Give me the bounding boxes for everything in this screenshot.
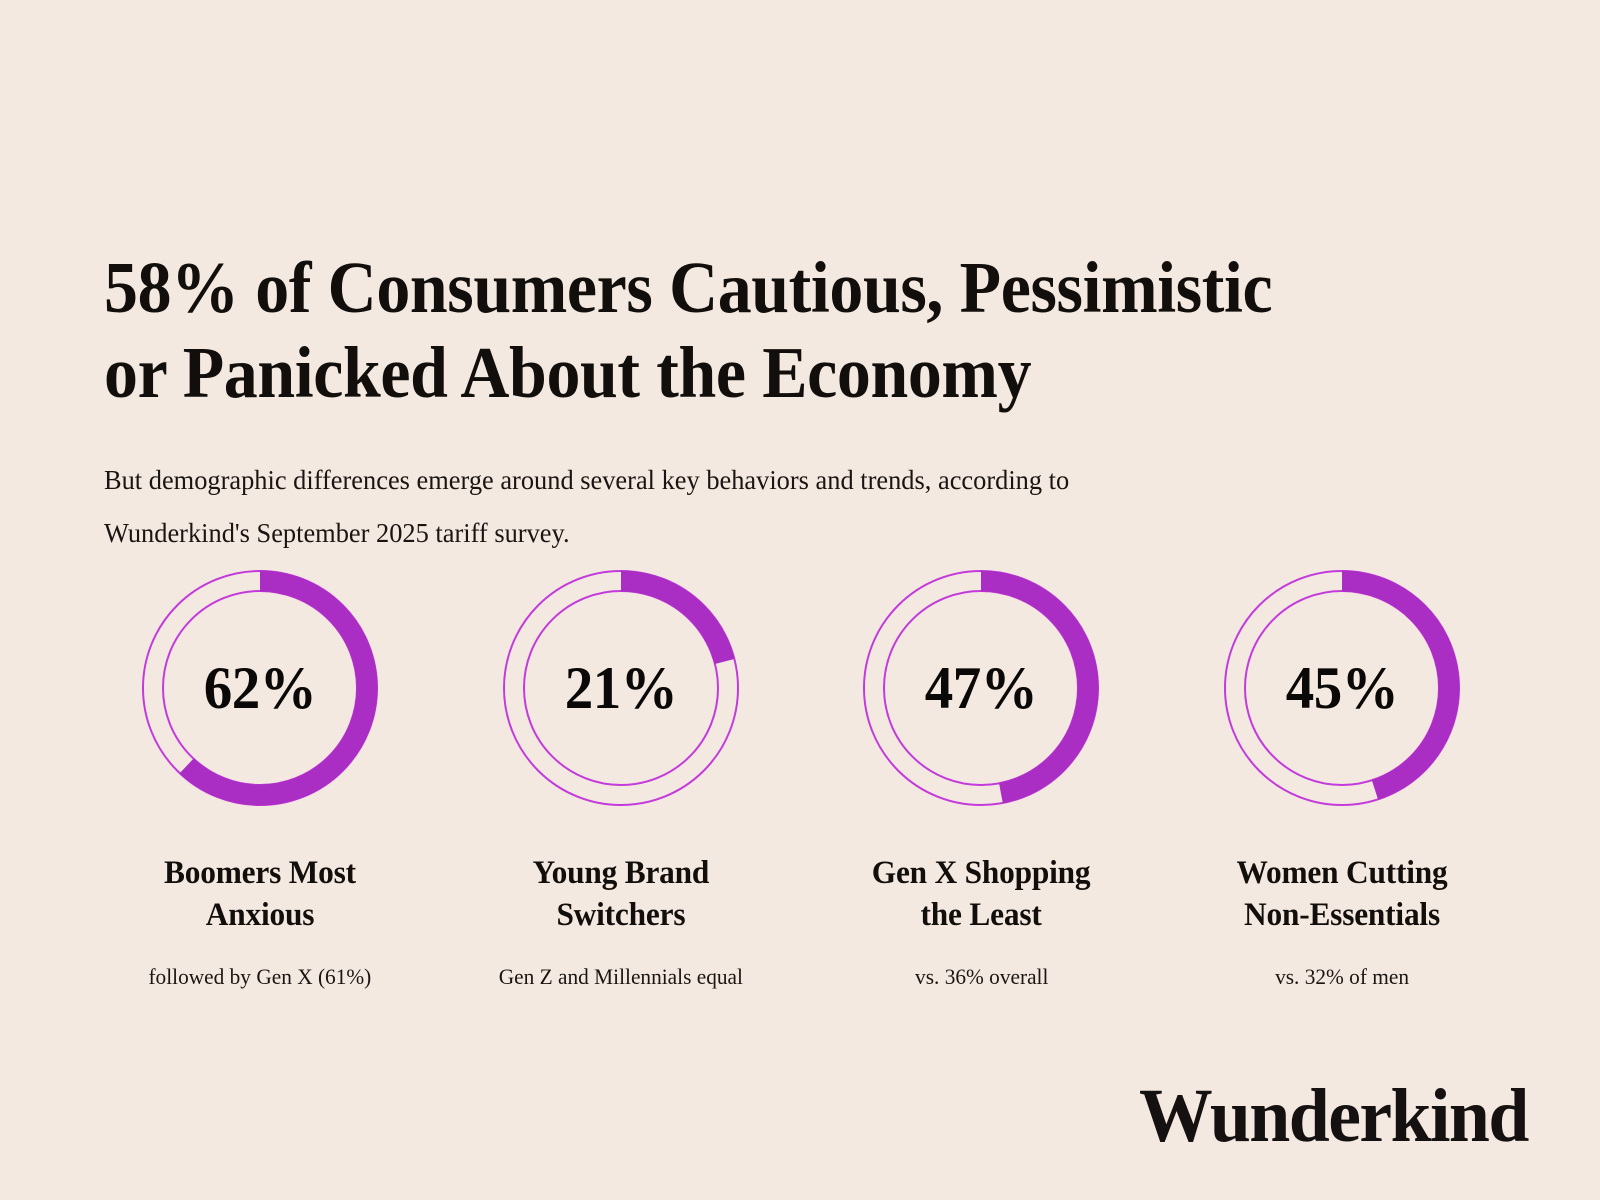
infographic-canvas: 58% of Consumers Cautious, Pessimistic o… (0, 0, 1600, 1200)
stat-note: vs. 32% of men (1275, 963, 1409, 992)
donut-chart: 21% (493, 560, 749, 816)
donut-value-label: 47% (860, 560, 1103, 816)
page-subtitle: But demographic differences emerge aroun… (104, 453, 1342, 560)
page-title-line-1: 58% of Consumers Cautious, Pessimistic (104, 247, 1272, 328)
donut-value-label: 21% (499, 560, 742, 816)
stat-donut-row: 62% Boomers Most Anxious followed by Gen… (86, 560, 1516, 992)
stat-title-line-1: Gen X Shopping (872, 855, 1091, 891)
stat-title: Boomers Most Anxious (164, 852, 356, 936)
stat-title-line-2: Non-Essentials (1244, 897, 1440, 933)
stat-title: Young Brand Switchers (532, 852, 709, 936)
stat-card: 47% Gen X Shopping the Least vs. 36% ove… (807, 560, 1155, 992)
donut-value-label: 45% (1220, 560, 1463, 816)
donut-chart: 45% (1214, 560, 1470, 816)
stat-note: Gen Z and Millennials equal (499, 963, 743, 992)
page-title: 58% of Consumers Cautious, Pessimistic o… (104, 245, 1406, 416)
stat-title: Women Cutting Non-Essentials (1237, 852, 1448, 936)
stat-title-line-1: Young Brand (532, 855, 709, 891)
stat-note: vs. 36% overall (915, 963, 1048, 992)
stat-title-line-2: Switchers (556, 897, 685, 933)
stat-card: 21% Young Brand Switchers Gen Z and Mill… (447, 560, 795, 992)
page-subtitle-line-2: Wunderkind's September 2025 tariff surve… (104, 517, 570, 548)
donut-value-label: 62% (138, 560, 381, 816)
stat-title-line-2: the Least (921, 897, 1042, 933)
stat-title-line-1: Boomers Most (164, 855, 356, 891)
donut-chart: 62% (132, 560, 388, 816)
donut-chart: 47% (853, 560, 1109, 816)
page-subtitle-line-1: But demographic differences emerge aroun… (104, 464, 1069, 495)
stat-title-line-2: Anxious (206, 897, 314, 933)
wunderkind-logo: Wunderkind (1139, 1073, 1528, 1160)
stat-card: 62% Boomers Most Anxious followed by Gen… (86, 560, 434, 992)
page-title-line-2: or Panicked About the Economy (104, 332, 1031, 413)
stat-card: 45% Women Cutting Non-Essentials vs. 32%… (1168, 560, 1516, 992)
stat-title: Gen X Shopping the Least (872, 852, 1091, 936)
stat-note: followed by Gen X (61%) (149, 963, 372, 992)
stat-title-line-1: Women Cutting (1237, 855, 1448, 891)
